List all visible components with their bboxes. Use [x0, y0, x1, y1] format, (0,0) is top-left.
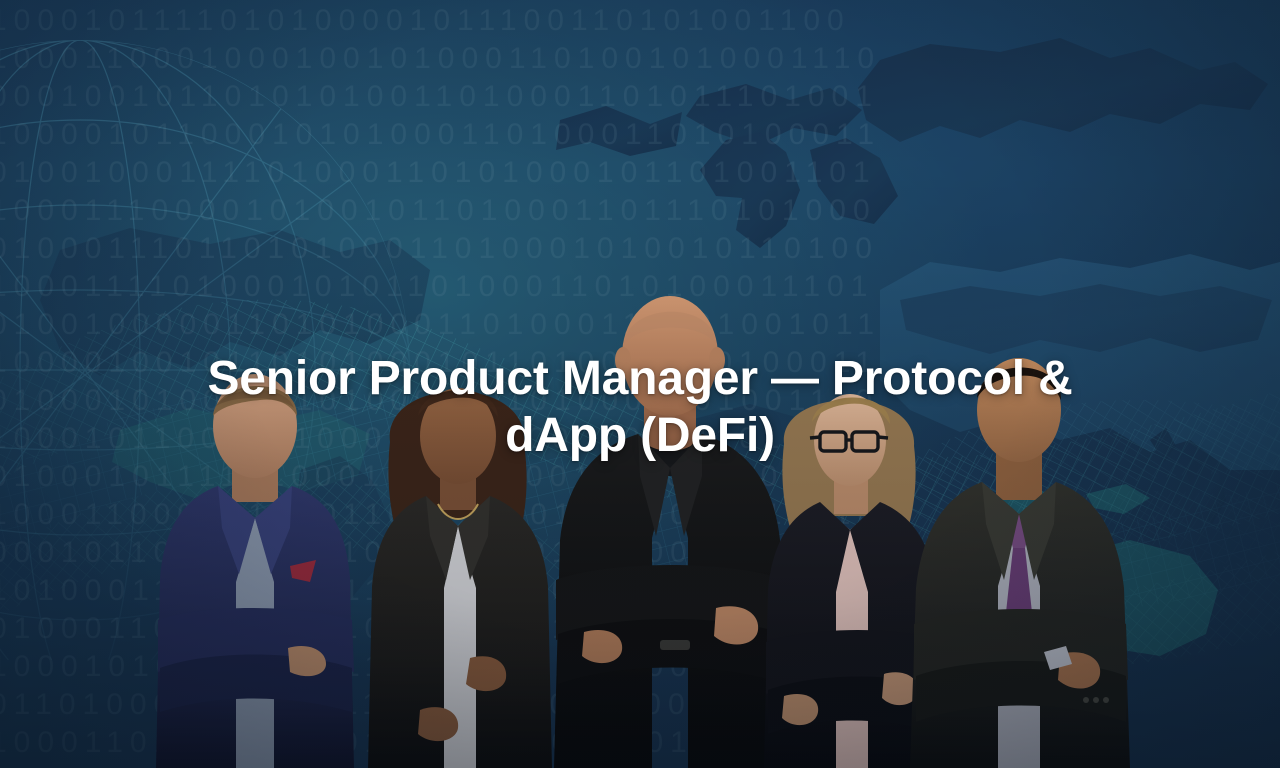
- person-2-woman-dark-blazer: [352, 368, 570, 768]
- person-5-man-charcoal-suit: [898, 348, 1138, 768]
- hero-banner: 1000101111010100001011100110101001100 10…: [0, 0, 1280, 768]
- person-1-man-navy-suit: [140, 368, 370, 768]
- business-team-photo: [0, 248, 1280, 768]
